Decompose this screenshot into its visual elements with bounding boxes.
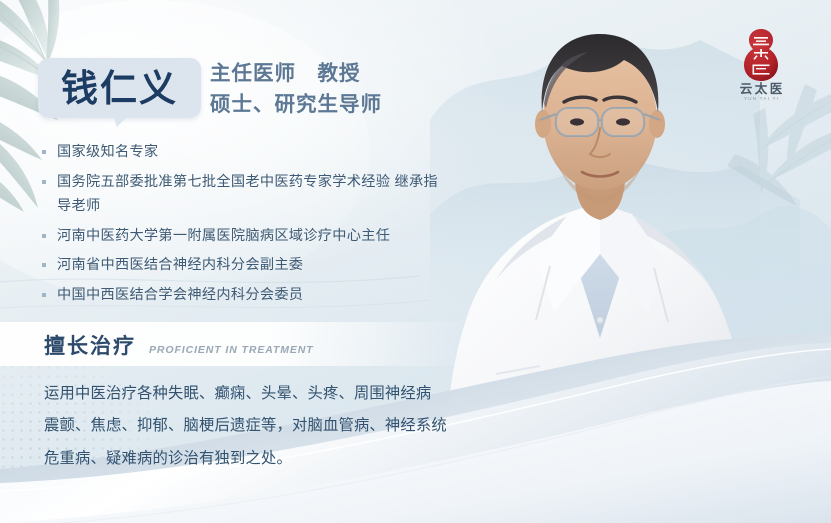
doctor-profile-card: 云太医 YUN TAI YI 钱仁义 主任医师 教授 硕士、研究生导师 国家级知… (0, 0, 831, 523)
logo-brand-pinyin: YUN TAI YI (728, 96, 794, 102)
list-item: 河南中医药大学第一附属医院脑病区域诊疗中心主任 (42, 225, 442, 249)
bamboo-leaf-decoration-top-right (647, 84, 831, 264)
bullet-icon (42, 234, 46, 238)
description-line: 危重病、疑难病的诊治有独到之处。 (44, 443, 448, 475)
doctor-portrait (432, 8, 762, 508)
credential-text: 河南省中西医结合神经内科分会副主委 (57, 254, 303, 278)
description-line: 震颤、焦虑、抑郁、脑梗后遗症等，对脑血管病、神经系统 (44, 410, 448, 442)
bullet-icon (42, 150, 46, 154)
skill-subtitle: PROFICIENT IN TREATMENT (149, 344, 314, 356)
list-item: 中国中西医结合学会神经内科分会委员 (42, 284, 442, 308)
doctor-title-line-2: 硕士、研究生导师 (210, 89, 382, 120)
skill-title: 擅长治疗 (44, 330, 136, 360)
credential-text: 国家级知名专家 (57, 141, 158, 165)
bullet-icon (42, 293, 46, 297)
doctor-name: 钱仁义 (61, 70, 178, 107)
description-line: 运用中医治疗各种失眠、癫痫、头晕、头疼、周围神经病 (44, 378, 448, 410)
list-item: 河南省中西医结合神经内科分会副主委 (42, 254, 442, 278)
logo-brand-name: 云太医 (728, 83, 794, 96)
list-item: 国务院五部委批准第七批全国老中医药专家学术经验 继承指导老师 (42, 171, 442, 219)
doctor-name-badge: 钱仁义 (38, 58, 201, 118)
doctor-titles: 主任医师 教授 硕士、研究生导师 (210, 58, 382, 120)
bullet-icon (42, 180, 46, 184)
skill-description: 运用中医治疗各种失眠、癫痫、头晕、头疼、周围神经病 震颤、焦虑、抑郁、脑梗后遗症… (44, 378, 448, 475)
seal-gourd-logo (740, 28, 782, 82)
brand-logo: 云太医 YUN TAI YI (728, 28, 794, 110)
credential-text: 国务院五部委批准第七批全国老中医药专家学术经验 继承指导老师 (57, 171, 442, 219)
skill-section-header: 擅长治疗 PROFICIENT IN TREATMENT (44, 330, 314, 360)
credential-text: 河南中医药大学第一附属医院脑病区域诊疗中心主任 (57, 225, 390, 249)
doctor-title-line-1: 主任医师 教授 (210, 58, 382, 89)
bullet-icon (42, 263, 46, 267)
credentials-list: 国家级知名专家 国务院五部委批准第七批全国老中医药专家学术经验 继承指导老师 河… (42, 141, 442, 314)
list-item: 国家级知名专家 (42, 141, 442, 165)
credential-text: 中国中西医结合学会神经内科分会委员 (57, 284, 303, 308)
